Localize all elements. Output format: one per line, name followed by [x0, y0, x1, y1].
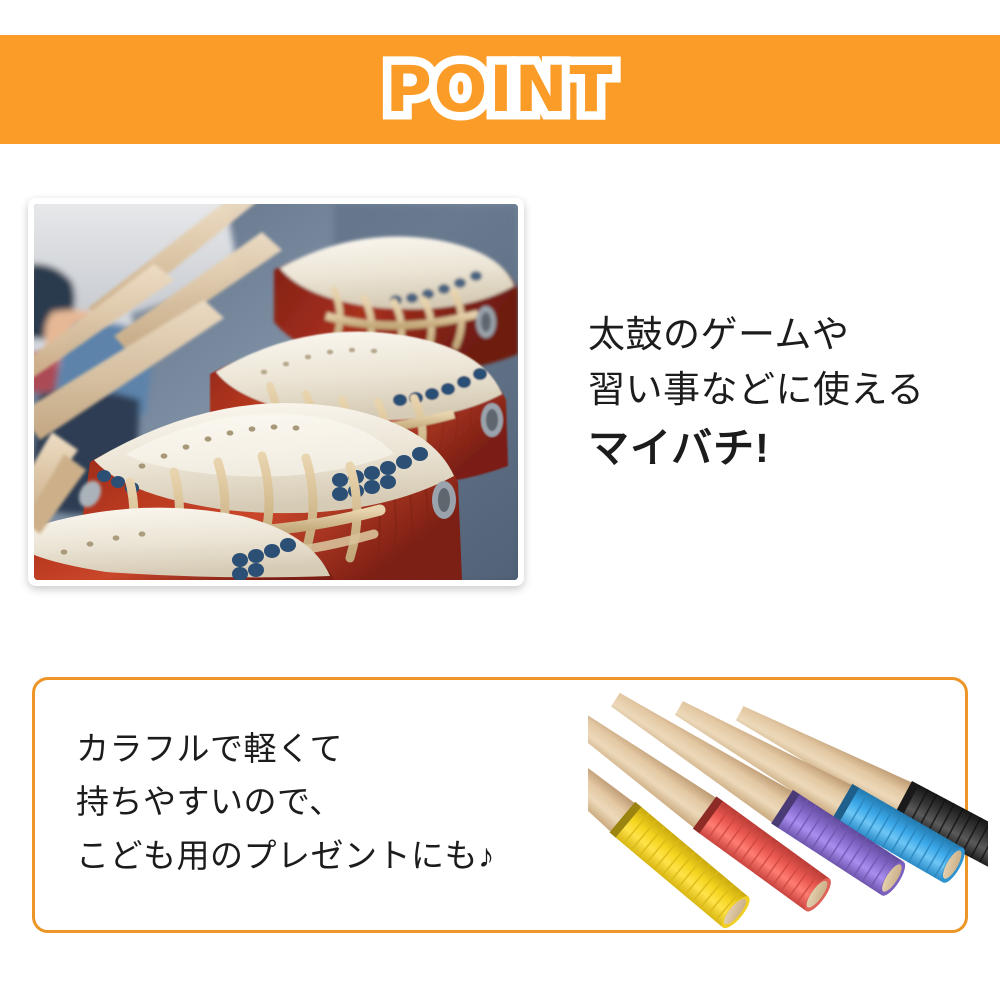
- taiko-drums-photo: [34, 204, 518, 580]
- taiko-drums-photo-frame: [28, 198, 524, 586]
- bottom-line-1: カラフルで軽くて: [76, 722, 616, 775]
- taiko-drums-illustration: [34, 204, 518, 580]
- headline-line-2: 習い事などに使える: [588, 363, 988, 418]
- page-title: POINT: [386, 53, 615, 126]
- bachi-sticks-image: [588, 648, 988, 948]
- bottom-line-3: こども用のプレゼントにも♪: [76, 829, 616, 882]
- headline-line-3: マイバチ!: [588, 418, 988, 479]
- bottom-line-2: 持ちやすいので、: [76, 775, 616, 828]
- point-title-wrapper: POINT POINT: [386, 58, 615, 121]
- headline-line-1: 太鼓のゲームや: [588, 308, 988, 363]
- bachi-sticks-illustration: [588, 648, 988, 948]
- point-header-banner: POINT POINT: [0, 35, 1000, 144]
- headline-block: 太鼓のゲームや 習い事などに使える マイバチ!: [588, 308, 988, 478]
- bottom-text-block: カラフルで軽くて 持ちやすいので、 こども用のプレゼントにも♪: [76, 722, 616, 882]
